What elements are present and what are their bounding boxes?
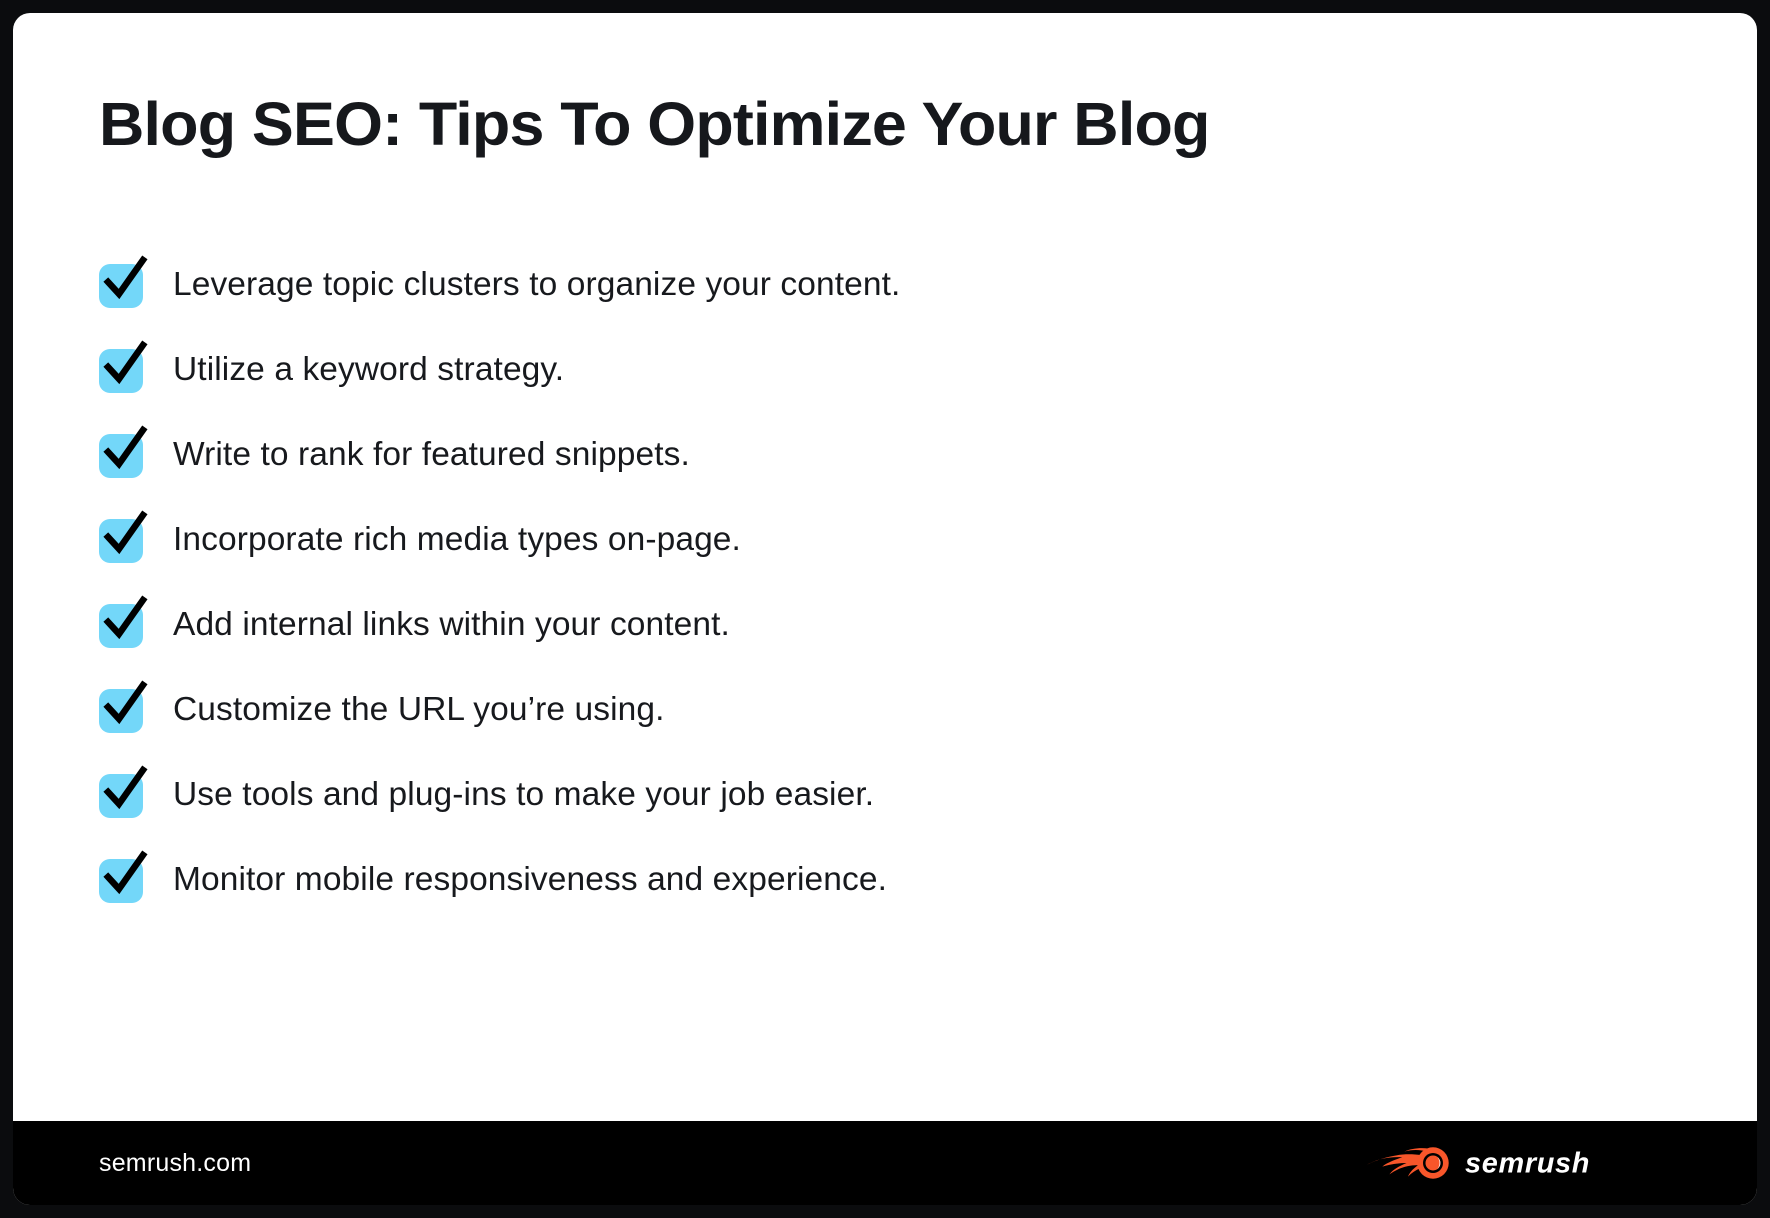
checked-checkbox-icon[interactable] — [99, 434, 143, 478]
list-item-label: Write to rank for featured snippets. — [173, 437, 690, 474]
semrush-logo[interactable]: semrush — [1365, 1143, 1671, 1183]
list-item-label: Add internal links within your content. — [173, 607, 730, 644]
list-item[interactable]: Add internal links within your content. — [99, 583, 1659, 668]
checked-checkbox-icon[interactable] — [99, 604, 143, 648]
page-title: Blog SEO: Tips To Optimize Your Blog — [99, 92, 1210, 158]
list-item[interactable]: Incorporate rich media types on-page. — [99, 498, 1659, 583]
checked-checkbox-icon[interactable] — [99, 519, 143, 563]
semrush-comet-flame-icon — [1365, 1143, 1451, 1183]
checked-checkbox-icon[interactable] — [99, 774, 143, 818]
list-item[interactable]: Customize the URL you’re using. — [99, 668, 1659, 753]
list-item-label: Monitor mobile responsiveness and experi… — [173, 862, 887, 899]
semrush-wordmark: semrush — [1465, 1147, 1671, 1180]
list-item[interactable]: Utilize a keyword strategy. — [99, 328, 1659, 413]
list-item-label: Leverage topic clusters to organize your… — [173, 267, 900, 304]
checked-checkbox-icon[interactable] — [99, 859, 143, 903]
svg-text:semrush: semrush — [1465, 1147, 1590, 1179]
footer-bar: semrush.com semrush — [13, 1121, 1757, 1205]
checked-checkbox-icon[interactable] — [99, 349, 143, 393]
seo-tips-checklist: Leverage topic clusters to organize your… — [99, 243, 1659, 923]
checked-checkbox-icon[interactable] — [99, 689, 143, 733]
list-item-label: Incorporate rich media types on-page. — [173, 522, 741, 559]
list-item[interactable]: Write to rank for featured snippets. — [99, 413, 1659, 498]
screenshot-canvas: Blog SEO: Tips To Optimize Your Blog Lev… — [0, 0, 1770, 1218]
list-item[interactable]: Leverage topic clusters to organize your… — [99, 243, 1659, 328]
content-card: Blog SEO: Tips To Optimize Your Blog Lev… — [13, 13, 1757, 1205]
list-item[interactable]: Monitor mobile responsiveness and experi… — [99, 838, 1659, 923]
list-item[interactable]: Use tools and plug-ins to make your job … — [99, 753, 1659, 838]
checked-checkbox-icon[interactable] — [99, 264, 143, 308]
list-item-label: Customize the URL you’re using. — [173, 692, 665, 729]
list-item-label: Utilize a keyword strategy. — [173, 352, 564, 389]
list-item-label: Use tools and plug-ins to make your job … — [173, 777, 874, 814]
footer-site-url[interactable]: semrush.com — [99, 1149, 251, 1178]
